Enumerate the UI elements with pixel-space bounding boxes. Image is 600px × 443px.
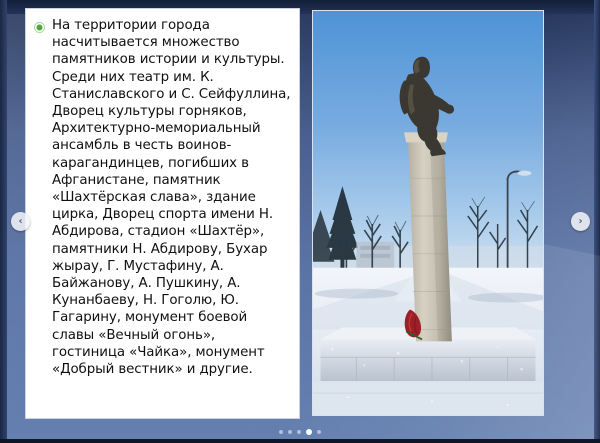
carousel-prev-button[interactable]: ‹ — [11, 212, 30, 231]
chevron-left-icon: ‹ — [18, 217, 22, 227]
slide-frame: На территории города насчитывается множе… — [0, 0, 600, 443]
carousel-dot-5[interactable] — [317, 430, 321, 434]
slide-body-paragraph: На территории города насчитывается множе… — [52, 17, 292, 378]
photo-illustration — [313, 11, 543, 415]
bullet-paragraph-row: На территории города насчитывается множе… — [26, 9, 299, 378]
frame-bottom-shade — [0, 439, 600, 443]
carousel-dot-4[interactable] — [306, 429, 312, 435]
green-bullet-icon — [34, 22, 45, 33]
carousel-dot-3[interactable] — [297, 430, 301, 434]
carousel-dot-1[interactable] — [279, 430, 283, 434]
carousel-next-button[interactable]: › — [571, 212, 590, 231]
slide-photo — [312, 10, 544, 416]
chevron-right-icon: › — [578, 217, 582, 227]
carousel-dot-2[interactable] — [288, 430, 292, 434]
text-card: На территории города насчитывается множе… — [25, 8, 300, 419]
frame-right-shade — [594, 0, 600, 443]
frame-left-shade — [0, 0, 7, 443]
carousel-pagination — [0, 429, 600, 435]
